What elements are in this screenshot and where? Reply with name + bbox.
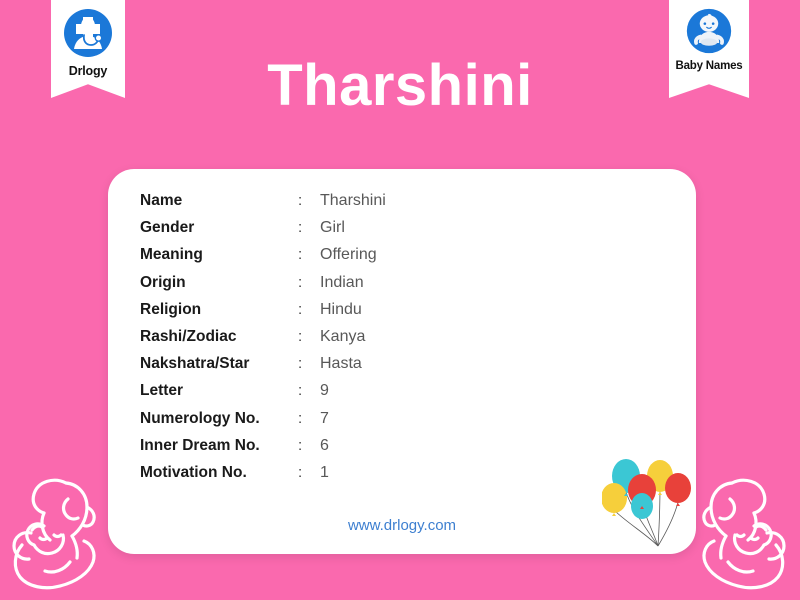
detail-row-origin: Origin : Indian <box>140 274 560 301</box>
detail-label: Religion <box>140 301 298 319</box>
detail-label: Motivation No. <box>140 464 298 482</box>
detail-row-inner-dream-no: Inner Dream No. : 6 <box>140 437 560 464</box>
detail-value: 9 <box>320 382 329 400</box>
detail-label: Gender <box>140 219 298 237</box>
detail-separator: : <box>298 437 320 454</box>
detail-separator: : <box>298 328 320 345</box>
detail-label: Inner Dream No. <box>140 437 298 455</box>
detail-value: Offering <box>320 246 377 264</box>
detail-row-letter: Letter : 9 <box>140 382 560 409</box>
detail-separator: : <box>298 382 320 399</box>
website-url[interactable]: www.drlogy.com <box>108 517 696 534</box>
detail-label: Meaning <box>140 246 298 264</box>
detail-separator: : <box>298 355 320 372</box>
detail-row-name: Name : Tharshini <box>140 192 560 219</box>
detail-value: Hindu <box>320 301 362 319</box>
page-title: Tharshini <box>0 57 800 115</box>
detail-separator: : <box>298 192 320 209</box>
detail-separator: : <box>298 219 320 236</box>
detail-label: Nakshatra/Star <box>140 355 298 373</box>
detail-row-numerology-no: Numerology No. : 7 <box>140 410 560 437</box>
name-details-list: Name : Tharshini Gender : Girl Meaning :… <box>140 192 560 491</box>
decoration-mother-and-baby-left <box>0 450 122 600</box>
detail-value: Girl <box>320 219 345 237</box>
detail-value: Tharshini <box>320 192 386 210</box>
detail-label: Letter <box>140 382 298 400</box>
detail-separator: : <box>298 410 320 427</box>
detail-value: Indian <box>320 274 364 292</box>
name-details-card: Name : Tharshini Gender : Girl Meaning :… <box>108 169 696 554</box>
detail-row-rashi-zodiac: Rashi/Zodiac : Kanya <box>140 328 560 355</box>
detail-separator: : <box>298 301 320 318</box>
detail-separator: : <box>298 464 320 481</box>
detail-value: 1 <box>320 464 329 482</box>
detail-row-motivation-no: Motivation No. : 1 <box>140 464 560 491</box>
detail-row-religion: Religion : Hindu <box>140 301 560 328</box>
detail-label: Name <box>140 192 298 210</box>
detail-value: Kanya <box>320 328 365 346</box>
detail-label: Numerology No. <box>140 410 298 428</box>
detail-label: Origin <box>140 274 298 292</box>
detail-separator: : <box>298 246 320 263</box>
detail-value: 7 <box>320 410 329 428</box>
detail-row-gender: Gender : Girl <box>140 219 560 246</box>
detail-label: Rashi/Zodiac <box>140 328 298 346</box>
detail-value: 6 <box>320 437 329 455</box>
baby-names-baby-icon <box>685 7 733 55</box>
drlogy-doctor-icon <box>62 7 114 59</box>
detail-value: Hasta <box>320 355 362 373</box>
detail-separator: : <box>298 274 320 291</box>
balloons-illustration <box>602 450 694 554</box>
detail-row-meaning: Meaning : Offering <box>140 246 560 273</box>
detail-row-nakshatra-star: Nakshatra/Star : Hasta <box>140 355 560 382</box>
